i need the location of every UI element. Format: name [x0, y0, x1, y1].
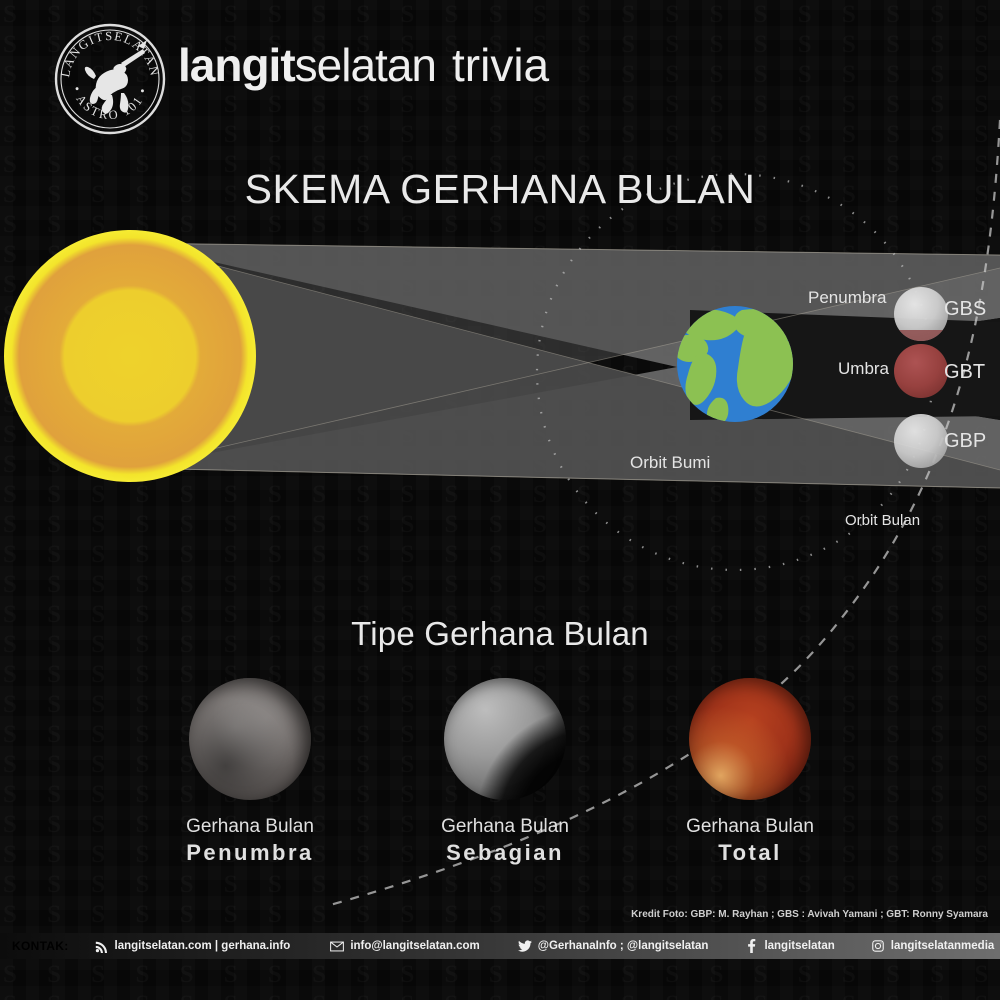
twitter-icon [518, 939, 532, 953]
footer-text-instagram: langitselatanmedia [891, 940, 995, 952]
infographic-canvas: S S S S S S S S S S S S S S S S S S S S … [0, 0, 1000, 1000]
footer-item-instagram[interactable]: langitselatanmedia [871, 939, 995, 953]
moon-photo-total [689, 678, 811, 800]
brand-wordmark: langitselatantrivia [178, 38, 549, 92]
footer-item-website[interactable]: langitselatan.com | gerhana.info [95, 939, 291, 953]
eclipse-type-card-penumbral: Gerhana Bulan Penumbra [125, 678, 375, 866]
moon-photo-partial [444, 678, 566, 800]
brand-suffix: trivia [452, 39, 549, 91]
label-orbit-bulan: Orbit Bulan [845, 512, 920, 529]
caption-line1: Gerhana Bulan [625, 816, 875, 838]
moon-gbp [894, 414, 948, 468]
instagram-icon [871, 939, 885, 953]
photo-credit: Kredit Foto: GBP: M. Rayhan ; GBS : Aviv… [631, 909, 988, 920]
langitselatan-logo[interactable]: LANGITSELATAN • ASTRO 101 • [50, 19, 170, 139]
caption-line2: Sebagian [380, 840, 630, 866]
footer-text-website: langitselatan.com | gerhana.info [115, 940, 291, 952]
label-orbit-bumi: Orbit Bumi [630, 453, 710, 473]
page-title: SKEMA GERHANA BULAN [0, 166, 1000, 213]
eclipse-type-card-total: Gerhana Bulan Total [625, 678, 875, 866]
caption-penumbral: Gerhana Bulan Penumbra [125, 816, 375, 866]
brand-light: selatan [295, 39, 436, 91]
label-gbs: GBS [944, 298, 986, 321]
facebook-icon [744, 939, 758, 953]
kontak-label: KONTAK: [12, 939, 69, 953]
label-umbra: Umbra [838, 359, 889, 379]
footer-text-facebook: langitselatan [764, 940, 834, 952]
label-penumbra: Penumbra [808, 288, 886, 308]
brand-bold: langit [178, 39, 295, 91]
moon-photo-penumbral [189, 678, 311, 800]
caption-partial: Gerhana Bulan Sebagian [380, 816, 630, 866]
envelope-icon [330, 939, 344, 953]
footer-contact-bar: KONTAK: langitselatan.com | gerhana.info… [0, 933, 1000, 959]
caption-line1: Gerhana Bulan [380, 816, 630, 838]
footer-item-email[interactable]: info@langitselatan.com [330, 939, 479, 953]
section-title-eclipse-types: Tipe Gerhana Bulan [0, 615, 1000, 653]
eclipse-type-card-partial: Gerhana Bulan Sebagian [380, 678, 630, 866]
label-gbt: GBT [944, 361, 985, 384]
moon-gbt [894, 344, 948, 398]
footer-text-twitter: @GerhanaInfo ; @langitselatan [538, 940, 709, 952]
rss-icon [95, 939, 109, 953]
caption-line2: Total [625, 840, 875, 866]
footer-item-twitter[interactable]: @GerhanaInfo ; @langitselatan [518, 939, 709, 953]
label-gbp: GBP [944, 430, 986, 453]
caption-line2: Penumbra [125, 840, 375, 866]
footer-text-email: info@langitselatan.com [350, 940, 479, 952]
footer-item-facebook[interactable]: langitselatan [744, 939, 834, 953]
caption-line1: Gerhana Bulan [125, 816, 375, 838]
caption-total: Gerhana Bulan Total [625, 816, 875, 866]
sun [4, 230, 256, 482]
header: LANGITSELATAN • ASTRO 101 • langitselata… [0, 0, 1000, 140]
